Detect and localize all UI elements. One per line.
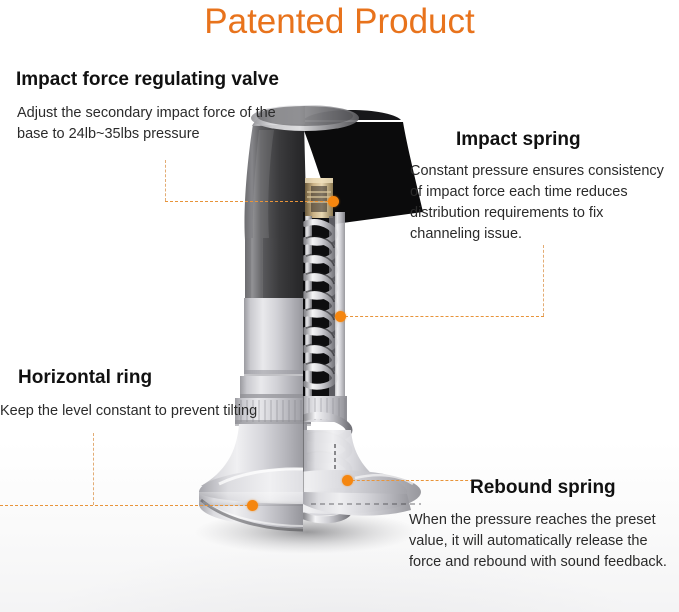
connector-impact-spring-vertical [543,245,544,316]
callout-body-rebound-spring: When the pressure reaches the preset val… [409,510,675,573]
hotspot-dot-rebound-spring [342,475,353,486]
callout-heading-impact-spring: Impact spring [456,128,581,151]
connector-horizontal-ring-horizontal [0,505,253,506]
connector-horizontal-ring-vertical [93,433,94,505]
hotspot-dot-valve [328,196,339,207]
handle-barrel [245,238,307,300]
hotspot-dot-horizontal-ring [247,500,258,511]
callout-heading-rebound-spring: Rebound spring [470,476,616,499]
callout-heading-horizontal-ring: Horizontal ring [18,366,152,389]
callout-body-impact-force-regulating-valve: Adjust the secondary impact force of the… [17,103,277,145]
hotspot-dot-impact-spring [335,311,346,322]
callout-body-horizontal-ring: Keep the level constant to prevent tilti… [0,401,290,422]
connector-valve-horizontal [165,201,333,202]
connector-impact-spring-horizontal [340,316,544,317]
callout-body-impact-spring: Constant pressure ensures consistency of… [410,161,672,245]
connector-valve-vertical [165,160,166,201]
page-title: Patented Product [0,0,679,44]
connector-rebound-spring-horizontal [347,480,473,481]
infographic-canvas: Patented Product [0,0,679,612]
callout-heading-impact-force-regulating-valve: Impact force regulating valve [16,68,279,91]
